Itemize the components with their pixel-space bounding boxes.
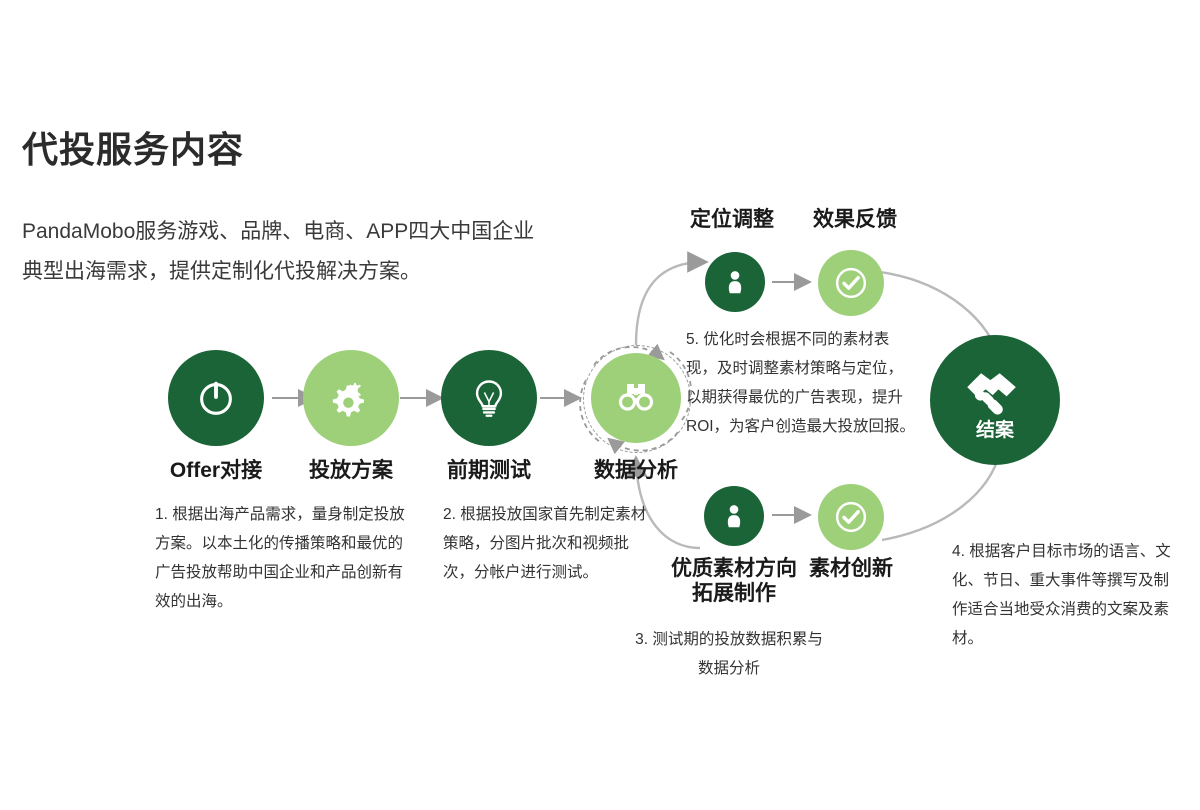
check-circle-icon <box>832 498 870 536</box>
copy-block-2: 2. 根据投放国家首先制定素材策略，分图片批次和视频批次，分帐户进行测试。 <box>443 500 655 587</box>
node-label-creative-direction-line2: 拓展制作 <box>636 581 832 606</box>
person-icon <box>720 267 750 297</box>
copy-block-4: 4. 根据客户目标市场的语言、文化、节日、重大事件等撰写及制作适合当地受众消费的… <box>952 537 1182 653</box>
copy-block-5: 5. 优化时会根据不同的素材表现，及时调整素材策略与定位，以期获得最优的广告表现… <box>686 325 918 441</box>
node-label-feedback: 效果反馈 <box>757 207 953 232</box>
node-plan[interactable] <box>303 350 399 446</box>
node-label-data-analysis: 数据分析 <box>538 458 734 483</box>
person-icon <box>719 501 749 531</box>
node-close-case[interactable] <box>930 335 1060 465</box>
copy-block-3: 3. 测试期的投放数据积累与数据分析 <box>634 625 824 683</box>
node-label-creative-new: 素材创新 <box>753 556 949 581</box>
power-icon <box>193 375 239 421</box>
node-label-close-case: 结案 <box>930 418 1060 443</box>
node-test[interactable] <box>441 350 537 446</box>
node-creative-direction[interactable] <box>704 486 764 546</box>
node-offer[interactable] <box>168 350 264 446</box>
lightbulb-icon <box>467 376 511 420</box>
loop-lower-right <box>882 452 1000 540</box>
node-creative-new[interactable] <box>818 484 884 550</box>
node-data-analysis[interactable] <box>591 353 681 443</box>
node-feedback[interactable] <box>818 250 884 316</box>
slide-canvas: 代投服务内容 PandaMobo服务游戏、品牌、电商、APP四大中国企业典型出海… <box>0 0 1200 810</box>
check-circle-icon <box>832 264 870 302</box>
binoculars-icon <box>612 374 660 422</box>
copy-block-1: 1. 根据出海产品需求，量身制定投放方案。以本土化的传播策略和最优的广告投放帮助… <box>155 500 407 616</box>
node-reposition[interactable] <box>705 252 765 312</box>
gears-icon <box>326 373 376 423</box>
